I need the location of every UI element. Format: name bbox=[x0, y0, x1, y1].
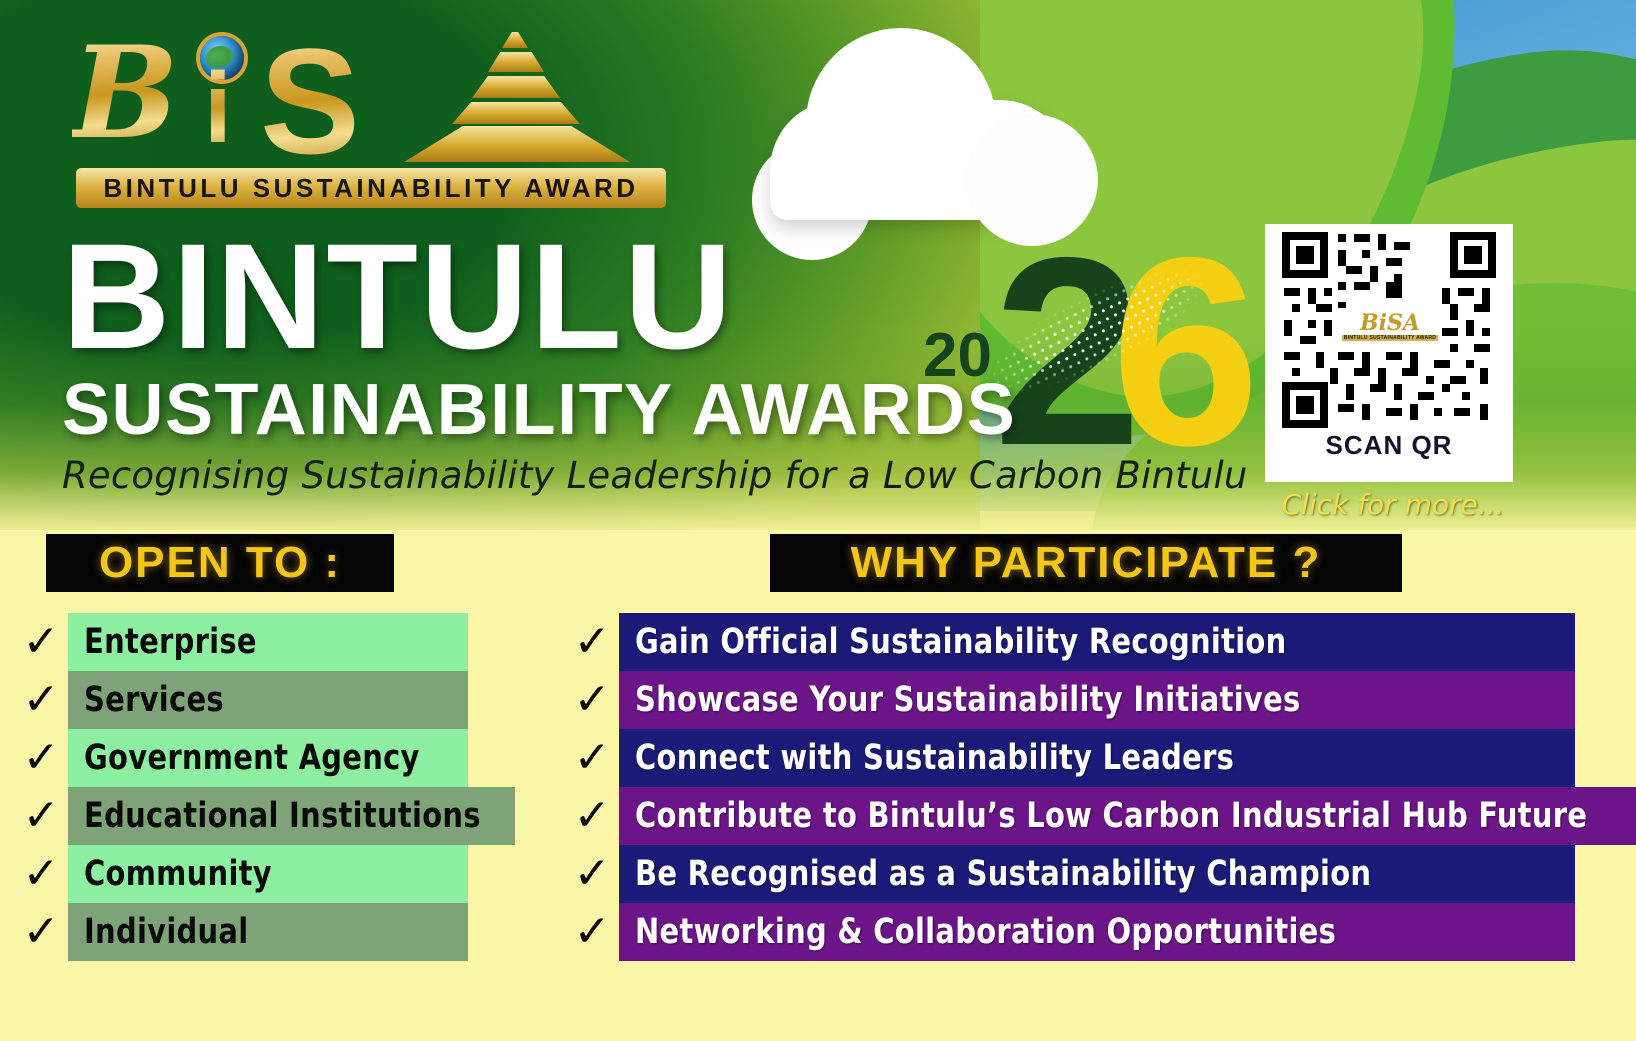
list-item: ✓ Government Agency bbox=[14, 729, 484, 787]
scan-qr-label: SCAN QR bbox=[1326, 430, 1453, 461]
logo-band: BINTULU SUSTAINABILITY AWARD bbox=[76, 168, 666, 208]
bisa-logo-mark: B i S bbox=[72, 22, 692, 162]
poster-root: B i S BINTULU SUSTAINABILITY AWARD BINTU… bbox=[0, 0, 1636, 1041]
list-item-bar: Contribute to Bintulu’s Low Carbon Indus… bbox=[619, 787, 1636, 845]
qr-logo-text: BiSA bbox=[1360, 312, 1420, 334]
logo-letter-i: i bbox=[204, 58, 232, 158]
check-icon: ✓ bbox=[14, 852, 68, 896]
check-icon: ✓ bbox=[565, 678, 619, 722]
list-item-label: Gain Official Sustainability Recognition bbox=[635, 622, 1287, 662]
open-to-heading: OPEN TO : bbox=[46, 534, 394, 592]
list-item: ✓ Educational Institutions bbox=[14, 787, 484, 845]
why-participate-heading-text: WHY PARTICIPATE ? bbox=[851, 538, 1322, 588]
headline-block: BINTULU SUSTAINABILITY AWARDS Recognisin… bbox=[62, 225, 1248, 497]
page-subtitle: SUSTAINABILITY AWARDS bbox=[62, 374, 1248, 446]
list-item-bar: Connect with Sustainability Leaders bbox=[619, 729, 1575, 787]
check-icon: ✓ bbox=[565, 910, 619, 954]
list-item-bar: Educational Institutions bbox=[68, 787, 515, 845]
check-icon: ✓ bbox=[565, 736, 619, 780]
qr-code-card[interactable]: BiSA BINTULU SUSTAINABILITY AWARD SCAN Q… bbox=[1265, 224, 1513, 482]
list-item-label: Services bbox=[84, 680, 224, 720]
why-participate-list: ✓ Gain Official Sustainability Recogniti… bbox=[565, 613, 1575, 961]
list-item: ✓ Be Recognised as a Sustainability Cham… bbox=[565, 845, 1575, 903]
list-item-bar: Government Agency bbox=[68, 729, 468, 787]
check-icon: ✓ bbox=[14, 620, 68, 664]
list-item-label: Be Recognised as a Sustainability Champi… bbox=[635, 854, 1371, 894]
list-item-label: Enterprise bbox=[84, 622, 257, 662]
list-item-label: Showcase Your Sustainability Initiatives bbox=[635, 680, 1301, 720]
list-item-label: Contribute to Bintulu’s Low Carbon Indus… bbox=[635, 796, 1587, 836]
open-to-list: ✓ Enterprise ✓ Services ✓ Government Age… bbox=[14, 613, 484, 961]
list-item-bar: Services bbox=[68, 671, 468, 729]
list-item-label: Community bbox=[84, 854, 272, 894]
list-item-bar: Networking & Collaboration Opportunities bbox=[619, 903, 1575, 961]
page-title: BINTULU bbox=[62, 225, 1248, 368]
list-item-label: Educational Institutions bbox=[84, 796, 481, 836]
open-to-heading-text: OPEN TO : bbox=[99, 538, 341, 588]
logo-letter-s: S bbox=[260, 26, 360, 176]
tower-icon bbox=[402, 30, 632, 162]
list-item-label: Networking & Collaboration Opportunities bbox=[635, 912, 1336, 952]
list-item: ✓ Contribute to Bintulu’s Low Carbon Ind… bbox=[565, 787, 1575, 845]
qr-logo-band: BINTULU SUSTAINABILITY AWARD bbox=[1342, 335, 1438, 341]
list-item-label: Government Agency bbox=[84, 738, 420, 778]
list-item: ✓ Community bbox=[14, 845, 484, 903]
bisa-logo: B i S BINTULU SUSTAINABILITY AWARD bbox=[72, 22, 692, 218]
list-item-bar: Individual bbox=[68, 903, 468, 961]
list-item-bar: Be Recognised as a Sustainability Champi… bbox=[619, 845, 1575, 903]
list-item: ✓ Showcase Your Sustainability Initiativ… bbox=[565, 671, 1575, 729]
logo-letter-b: B bbox=[72, 30, 179, 156]
list-item-bar: Showcase Your Sustainability Initiatives bbox=[619, 671, 1575, 729]
list-item: ✓ Gain Official Sustainability Recogniti… bbox=[565, 613, 1575, 671]
list-item: ✓ Networking & Collaboration Opportuniti… bbox=[565, 903, 1575, 961]
why-participate-heading: WHY PARTICIPATE ? bbox=[770, 534, 1402, 592]
list-item-label: Individual bbox=[84, 912, 248, 952]
list-item-bar: Community bbox=[68, 845, 468, 903]
qr-code-image[interactable]: BiSA BINTULU SUSTAINABILITY AWARD bbox=[1282, 232, 1496, 428]
qr-embedded-logo: BiSA BINTULU SUSTAINABILITY AWARD bbox=[1338, 308, 1442, 344]
list-item: ✓ Enterprise bbox=[14, 613, 484, 671]
logo-band-text: BINTULU SUSTAINABILITY AWARD bbox=[103, 173, 638, 204]
list-item-bar: Gain Official Sustainability Recognition bbox=[619, 613, 1575, 671]
check-icon: ✓ bbox=[14, 910, 68, 954]
list-item: ✓ Individual bbox=[14, 903, 484, 961]
list-item: ✓ Services bbox=[14, 671, 484, 729]
list-item: ✓ Connect with Sustainability Leaders bbox=[565, 729, 1575, 787]
list-item-label: Connect with Sustainability Leaders bbox=[635, 738, 1234, 778]
list-item-bar: Enterprise bbox=[68, 613, 468, 671]
check-icon: ✓ bbox=[14, 736, 68, 780]
check-icon: ✓ bbox=[565, 794, 619, 838]
check-icon: ✓ bbox=[565, 620, 619, 664]
tagline: Recognising Sustainability Leadership fo… bbox=[62, 454, 1248, 497]
check-icon: ✓ bbox=[14, 794, 68, 838]
check-icon: ✓ bbox=[565, 852, 619, 896]
check-icon: ✓ bbox=[14, 678, 68, 722]
click-for-more-link[interactable]: Click for more... bbox=[1268, 488, 1518, 521]
